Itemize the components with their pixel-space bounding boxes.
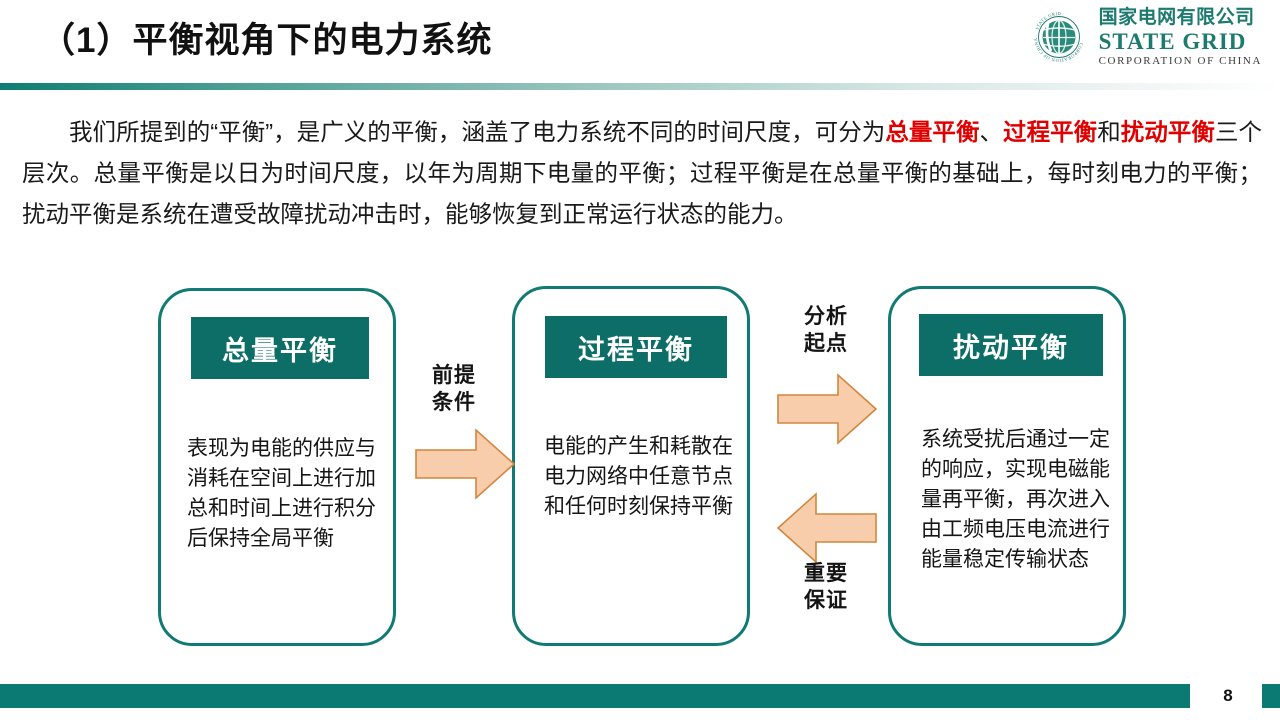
logo-name-en: STATE GRID [1099,30,1262,53]
flow-box-body: 表现为电能的供应与消耗在空间上进行加总和时间上进行积分后保持全局平衡 [187,434,379,554]
flow-box-body: 电能的产生和耗散在电力网络中任意节点和任何时刻保持平衡 [544,432,734,522]
arrow-label-important-guarantee: 重要 保证 [780,560,872,614]
flow-box-title: 扰动平衡 [919,314,1103,376]
page-title: （1）平衡视角下的电力系统 [40,12,492,63]
logo-name-cn: 国家电网有限公司 [1099,8,1262,27]
arrow-left-icon [776,490,878,566]
header-divider [0,83,1280,90]
page-number: 8 [1210,686,1246,706]
paragraph-segment-3: 和 [1097,119,1121,145]
flow-box-process-balance[interactable]: 过程平衡 电能的产生和耗散在电力网络中任意节点和任何时刻保持平衡 [512,286,750,646]
slide: （1）平衡视角下的电力系统 STATE [0,0,1280,720]
arrow-right-icon [776,371,878,447]
state-grid-logo: STATE GRID CORPORATION OF CHINA 国家电网有限公司… [1029,6,1262,68]
body-paragraph: 我们所提到的“平衡”，是广义的平衡，涵盖了电力系统不同的时间尺度，可分为总量平衡… [22,112,1262,235]
arrow-label-analysis-start: 分析 起点 [780,303,872,357]
arrow-label-precondition: 前提 条件 [408,362,500,416]
flow-box-disturbance-balance[interactable]: 扰动平衡 系统受扰后通过一定的响应，实现电磁能量再平衡，再次进入由工频电压电流进… [888,286,1126,646]
flow-box-body: 系统受扰后通过一定的响应，实现电磁能量再平衡，再次进入由工频电压电流进行能量稳定… [921,425,1111,575]
flow-box-title: 过程平衡 [545,316,727,378]
logo-subtitle-en: CORPORATION OF CHINA [1099,56,1262,67]
arrow-right-icon [414,426,516,502]
flow-box-title: 总量平衡 [191,317,369,379]
paragraph-segment-2: 、 [980,119,1004,145]
footer-accent-tab [1262,684,1280,708]
balance-flow-diagram: 总量平衡 表现为电能的供应与消耗在空间上进行加总和时间上进行积分后保持全局平衡 … [0,278,1280,658]
state-grid-globe-icon: STATE GRID CORPORATION OF CHINA [1029,7,1089,67]
highlight-process-balance: 过程平衡 [1003,119,1097,145]
footer-bar [0,684,1190,708]
highlight-total-balance: 总量平衡 [885,119,979,145]
flow-box-total-balance[interactable]: 总量平衡 表现为电能的供应与消耗在空间上进行加总和时间上进行积分后保持全局平衡 [158,288,396,646]
paragraph-segment-1: 我们所提到的“平衡”，是广义的平衡，涵盖了电力系统不同的时间尺度，可分为 [69,119,885,145]
slide-header: （1）平衡视角下的电力系统 STATE [0,0,1280,80]
logo-wordmark: 国家电网有限公司 STATE GRID CORPORATION OF CHINA [1099,8,1262,67]
highlight-disturbance-balance: 扰动平衡 [1121,119,1215,145]
